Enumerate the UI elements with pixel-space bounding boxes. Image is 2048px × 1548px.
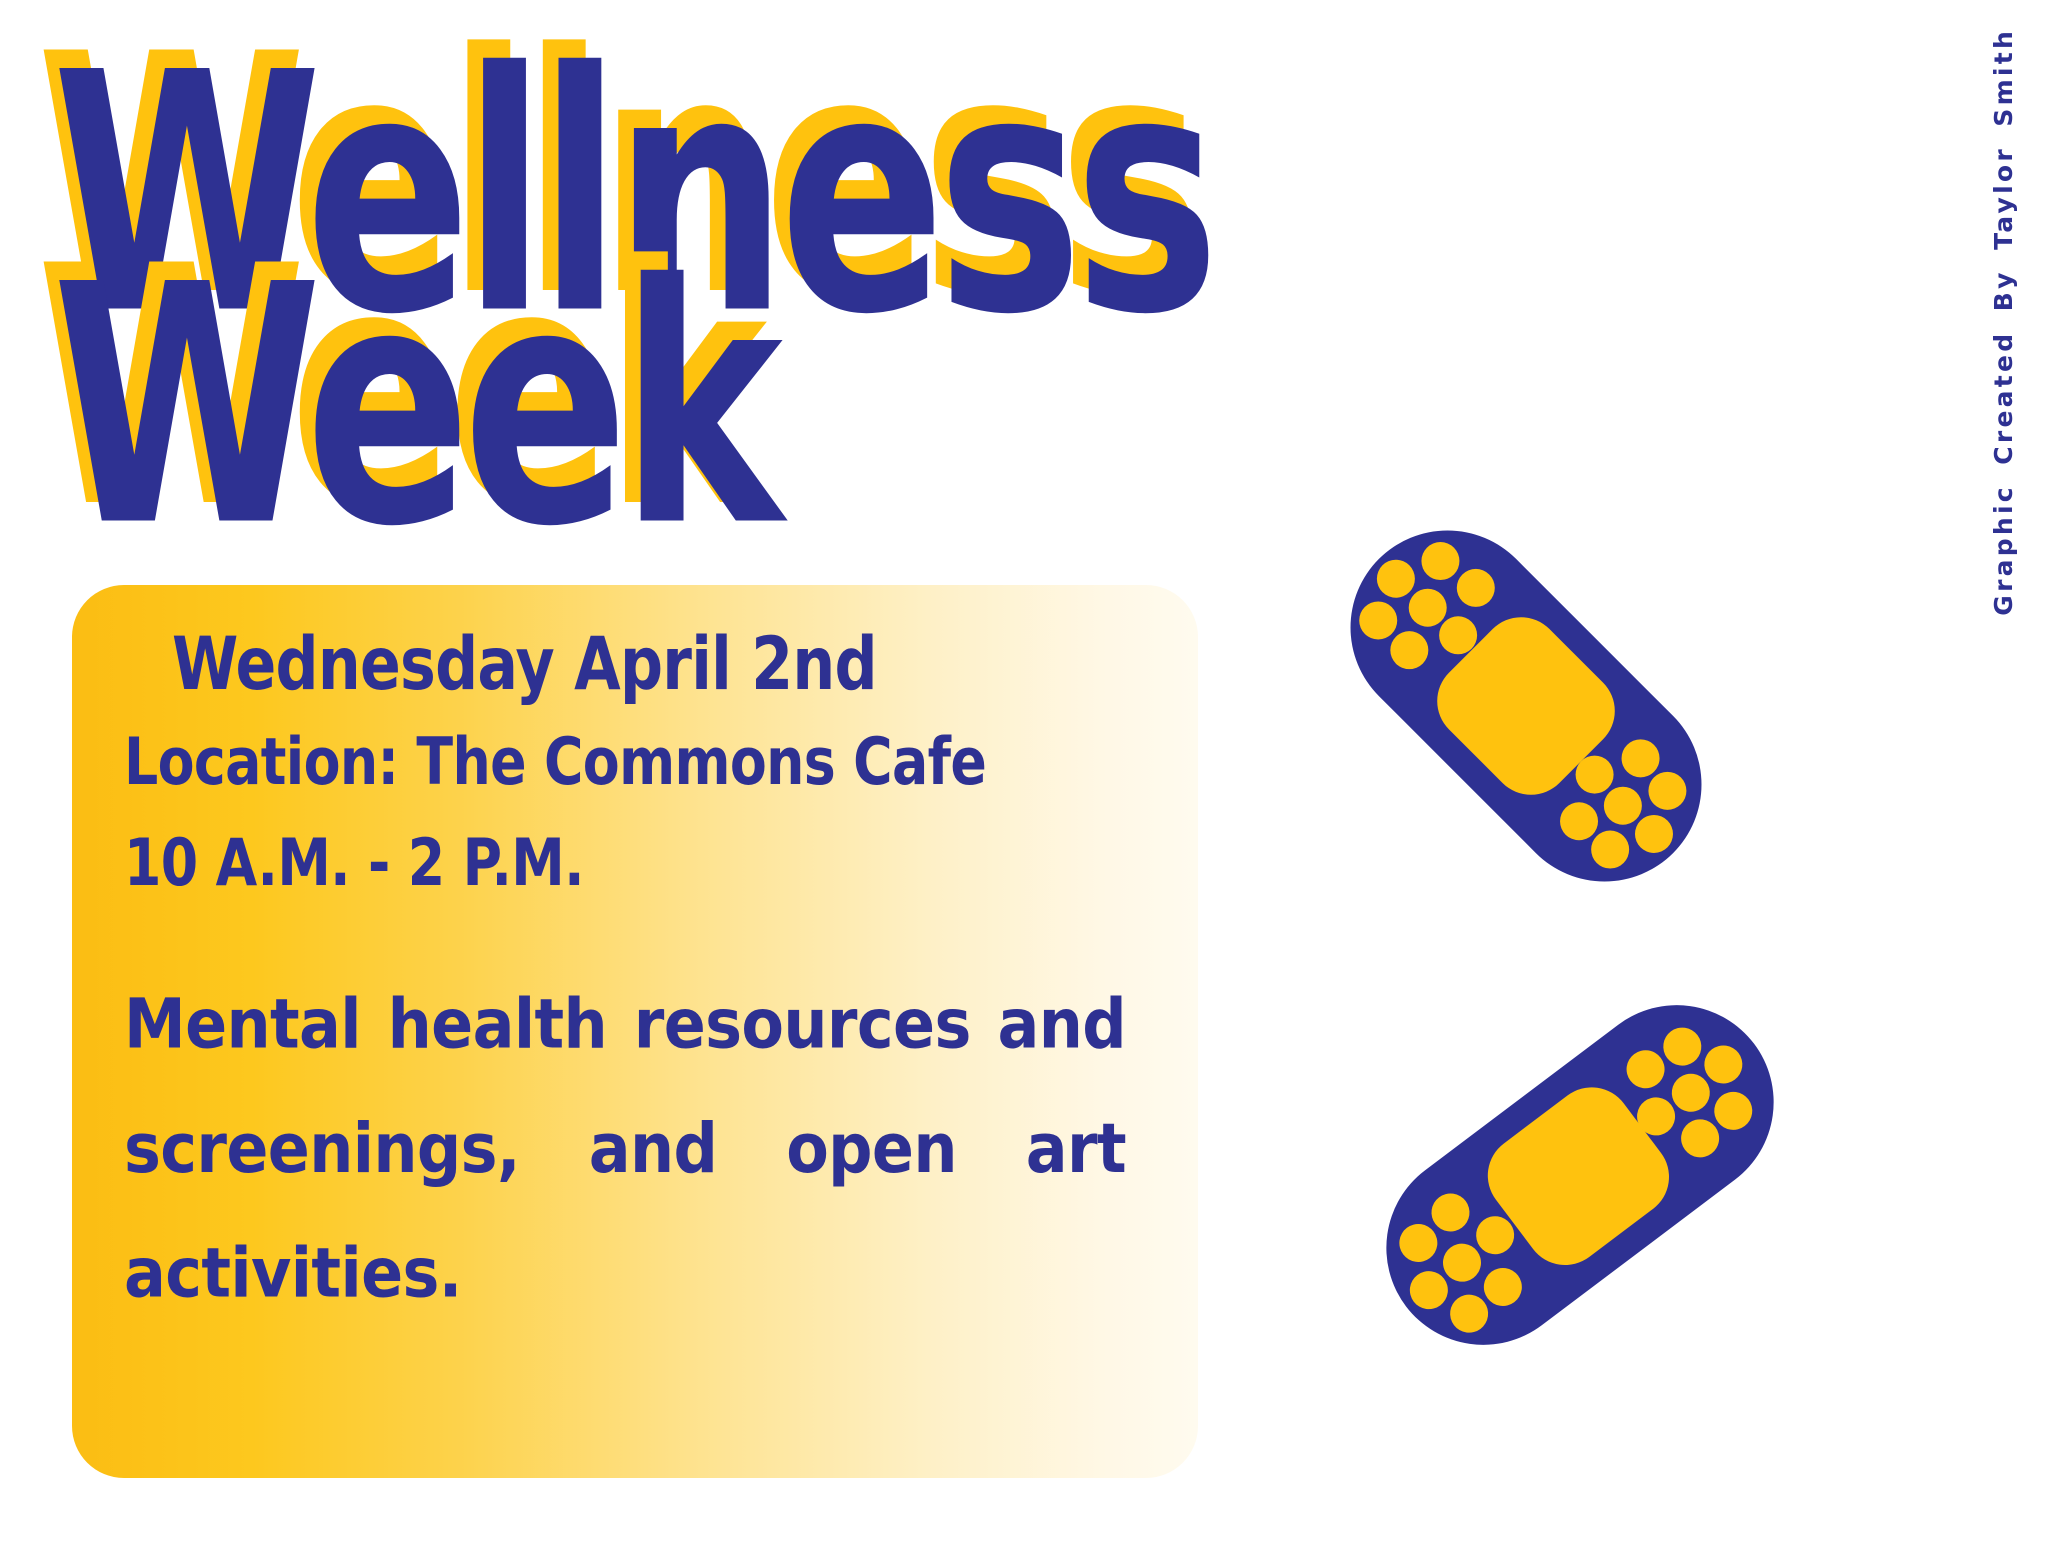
event-description: Mental health resources and screenings, … [124,963,1126,1459]
title-line-week-fill: Week [52,214,774,598]
title-line-week: Week Week [52,242,774,572]
credit-text: Graphic Created By Taylor Smith [1989,28,2018,616]
event-location: Location: The Commons Cafe [124,728,1105,797]
event-date: Wednesday April 2nd [172,625,1117,703]
event-info-card: Wednesday April 2nd Location: The Common… [72,585,1198,1478]
bandage-icon-top [1256,436,1796,976]
poster-title: Wellness Wellness Week Week [52,10,1372,440]
event-time: 10 A.M. - 2 P.M. [124,829,1105,898]
wellness-week-poster: Wellness Wellness Week Week Graphic Crea… [0,0,2048,1548]
bandage-icon-bottom [1300,940,1860,1410]
